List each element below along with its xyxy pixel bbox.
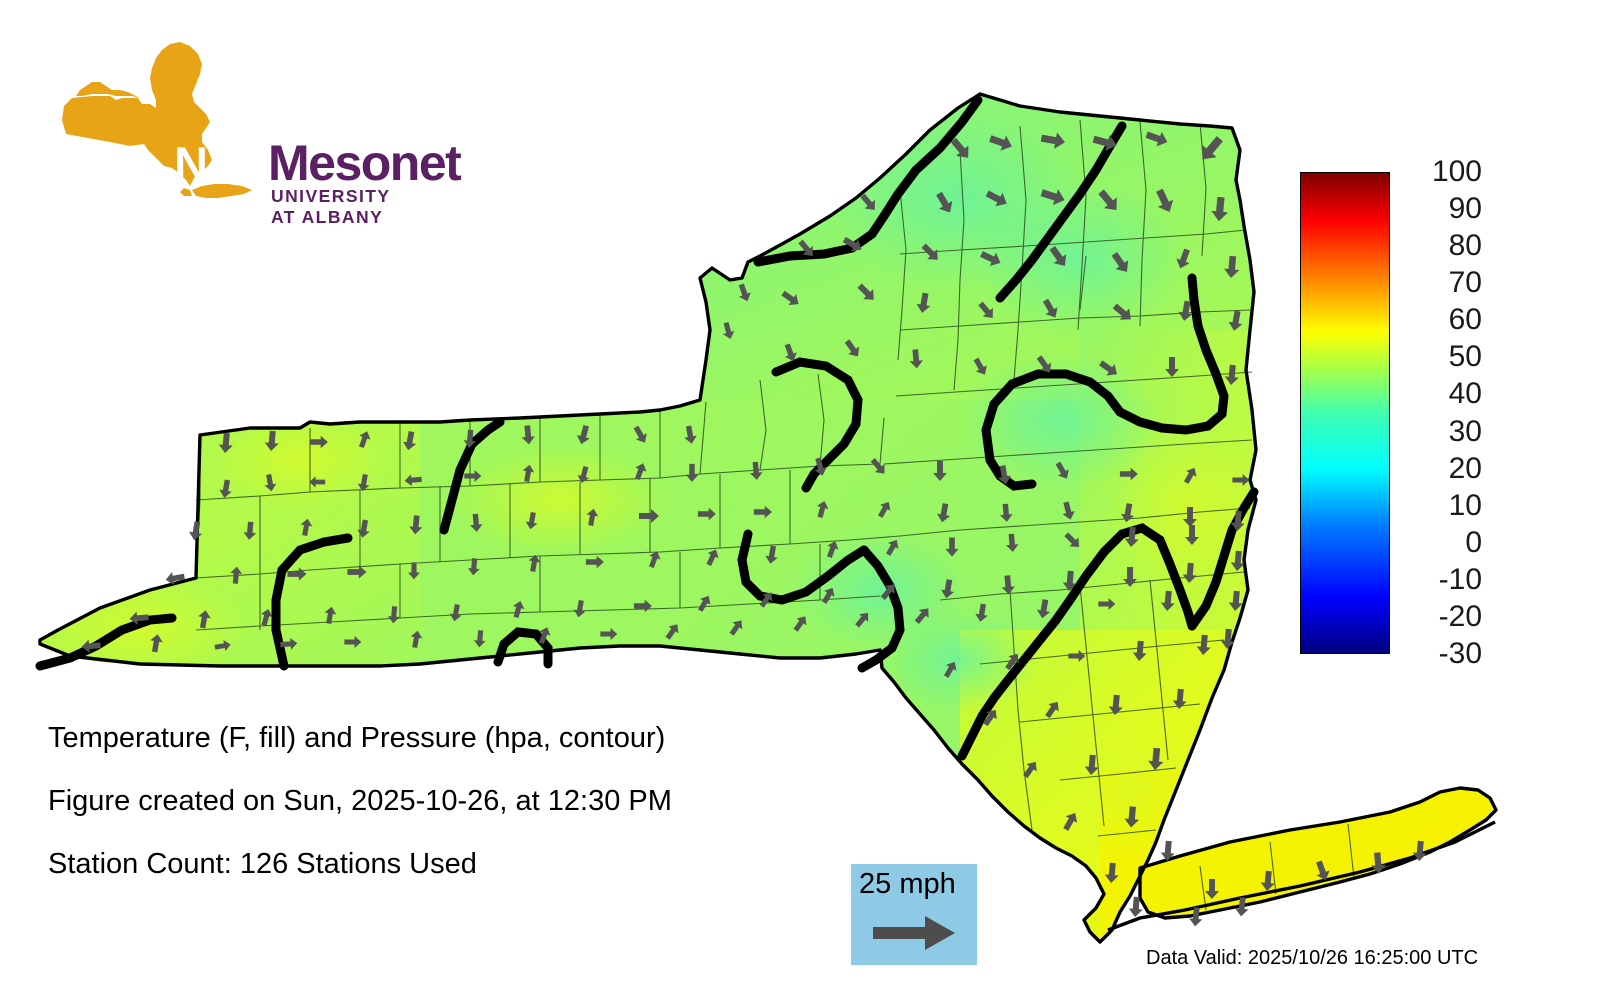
figure-caption-created: Figure created on Sun, 2025-10-26, at 12…	[48, 785, 672, 818]
colorbar-tick--30: -30	[1400, 637, 1482, 671]
arrow-right-icon	[873, 916, 957, 950]
colorbar-tick-60: 60	[1400, 303, 1482, 337]
wind-legend-label: 25 mph	[859, 868, 956, 901]
colorbar-tick--10: -10	[1400, 563, 1482, 597]
data-valid-timestamp: Data Valid: 2025/10/26 16:25:00 UTC	[1146, 947, 1478, 970]
colorbar-tick--20: -20	[1400, 600, 1482, 634]
colorbar-tick-labels: 1009080706050403020100-10-20-30	[1400, 155, 1550, 671]
fill-blob-warm-4	[1050, 720, 1210, 860]
figure-caption-title: Temperature (F, fill) and Pressure (hpa,…	[48, 722, 665, 755]
fill-blob-warm-5	[450, 445, 670, 555]
colorbar-gradient	[1300, 172, 1390, 654]
colorbar-tick-20: 20	[1400, 452, 1482, 486]
colorbar-tick-30: 30	[1400, 415, 1482, 449]
colorbar-tick-100: 100	[1400, 155, 1482, 189]
colorbar-tick-40: 40	[1400, 377, 1482, 411]
wind-speed-legend: 25 mph	[851, 864, 977, 965]
colorbar-tick-0: 0	[1400, 526, 1482, 560]
colorbar-tick-70: 70	[1400, 266, 1482, 300]
colorbar-tick-90: 90	[1400, 192, 1482, 226]
colorbar-tick-50: 50	[1400, 340, 1482, 374]
colorbar-tick-10: 10	[1400, 489, 1482, 523]
figure-caption-station-count: Station Count: 126 Stations Used	[48, 848, 477, 881]
figure-canvas: NYS Mesonet UNIVERSITY AT ALBANY	[0, 0, 1600, 1000]
temperature-colorbar: 1009080706050403020100-10-20-30	[1300, 172, 1560, 662]
colorbar-tick-80: 80	[1400, 229, 1482, 263]
